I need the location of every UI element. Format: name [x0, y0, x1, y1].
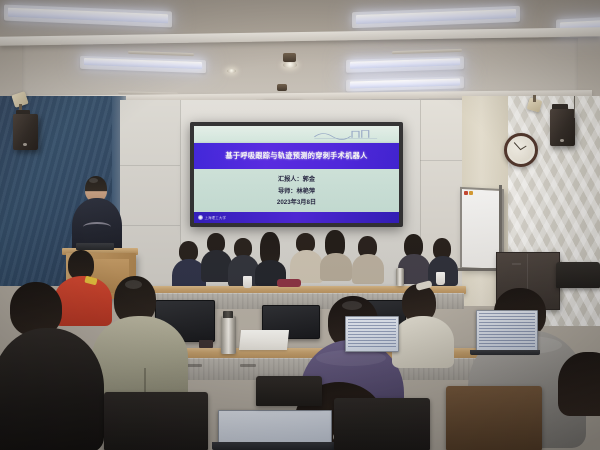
speaker-cable-right: [574, 96, 575, 118]
thermos-back: [396, 268, 404, 286]
ceiling-camera: [283, 53, 296, 62]
head: [558, 352, 600, 416]
slide-header-graphic: [313, 128, 383, 140]
cabinet-handle[interactable]: [512, 263, 521, 265]
slide-body: 汇报人：郭金 导师：林艳萍 2023年3月8日: [194, 169, 399, 213]
laptop-screen-left-lit[interactable]: [345, 316, 399, 352]
thermos-mid: [221, 316, 236, 354]
laptop-content-lines: [348, 319, 396, 349]
hair-highlight: [125, 280, 142, 289]
whiteboard-marker-red[interactable]: [464, 191, 468, 195]
ceiling-sensor: [277, 84, 287, 91]
speaker-right-badge: [560, 139, 564, 142]
chair-back-right[interactable]: [446, 386, 542, 450]
torso: [320, 253, 352, 281]
spotlight-stem-right: [533, 95, 536, 102]
red-item-on-desk: [277, 279, 301, 287]
presentation-slide: 基于呼吸跟踪与轨迹预测的穿刺手术机器人 汇报人：郭金 导师：林艳萍 2023年3…: [194, 126, 399, 223]
speaker-left-badge: [23, 143, 27, 146]
chair-back-center[interactable]: [334, 398, 430, 450]
paper-cup-back-2: [436, 272, 445, 285]
lecture-room-photo: 基于呼吸跟踪与轨迹预测的穿刺手术机器人 汇报人：郭金 导师：林艳萍 2023年3…: [0, 0, 600, 450]
slide-presenter-line: 汇报人：郭金: [278, 174, 315, 183]
chair-back-left[interactable]: [104, 392, 208, 450]
torso: [92, 316, 188, 402]
slide-top-band: [194, 126, 399, 143]
front-wall-seam-1: [120, 165, 180, 166]
slide-advisor-line: 导师：林艳萍: [278, 186, 315, 195]
chair-back-mid-small[interactable]: [256, 376, 322, 406]
hair-highlight: [342, 301, 362, 310]
right-door-seam: [420, 160, 466, 161]
laptop-base-bottom[interactable]: [212, 442, 336, 450]
desk-slot-1: [186, 364, 202, 367]
phone-on-desk: [199, 340, 213, 348]
laptop-screen-right-lit[interactable]: [476, 310, 538, 352]
podium-laptop: [76, 243, 114, 250]
slide-title-band: 基于呼吸跟踪与轨迹预测的穿刺手术机器人: [194, 143, 399, 168]
university-logo-icon: [198, 215, 203, 220]
desk-slot-2: [240, 364, 256, 367]
laptop-content-lines-2: [479, 313, 535, 349]
torso: [54, 276, 112, 326]
front-wall-seam-2: [120, 225, 180, 226]
slide-footer-band: 上海理工大学: [194, 212, 399, 223]
whiteboard-marker-orange[interactable]: [469, 191, 473, 195]
paper-cup-back: [243, 276, 252, 288]
chair-back-far-right[interactable]: [556, 262, 600, 288]
torso: [392, 316, 454, 368]
slide-title: 基于呼吸跟踪与轨迹预测的穿刺手术机器人: [225, 151, 367, 161]
laptop-base-right[interactable]: [470, 350, 540, 355]
ceiling-downlight-1: [283, 62, 297, 68]
slide-date-line: 2023年3月8日: [277, 197, 316, 206]
paper-sheet-mid: [239, 330, 289, 350]
slide-university-logo: 上海理工大学: [198, 215, 226, 220]
thermos-cap-mid: [223, 311, 233, 318]
torso: [0, 328, 104, 450]
projection-screen: 基于呼吸跟踪与轨迹预测的穿刺手术机器人 汇报人：郭金 导师：林艳萍 2023年3…: [190, 122, 403, 227]
ceiling-downlight-2: [227, 69, 236, 73]
torso: [352, 254, 384, 284]
slide-footer-logo-text: 上海理工大学: [205, 215, 227, 220]
hood-fold: [316, 350, 386, 366]
wall-clock: [504, 133, 538, 167]
presenter-hoodie-print: [83, 222, 111, 232]
presenter-hair-highlight: [89, 178, 98, 183]
